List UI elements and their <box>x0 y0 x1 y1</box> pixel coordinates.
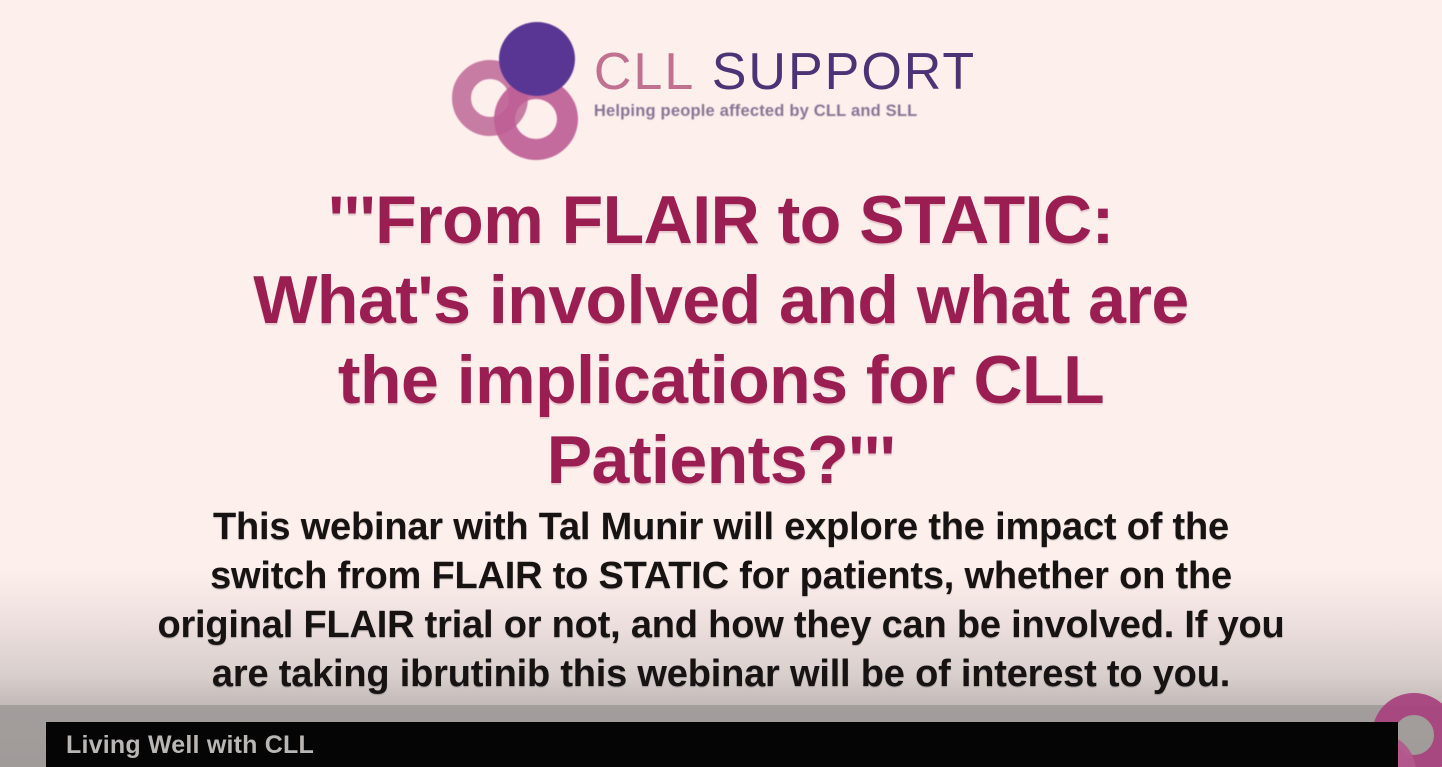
logo-solid-circle-icon <box>499 22 575 96</box>
brand-wordmark: CLL SUPPORT <box>594 45 976 99</box>
brand-tagline: Helping people affected by CLL and SLL <box>594 102 918 121</box>
logo-row: CLL SUPPORT Helping people affected by C… <box>450 22 976 144</box>
logo-text-block: CLL SUPPORT Helping people affected by C… <box>594 45 976 120</box>
title-line-3: the implications for CLL <box>0 340 1442 420</box>
description-line-4: are taking ibrutinib this webinar will b… <box>0 650 1442 699</box>
description-line-3: original FLAIR trial or not, and how the… <box>0 601 1442 650</box>
wordmark-cll: CLL <box>594 43 695 101</box>
cll-support-logo-mark-icon <box>450 22 578 144</box>
wordmark-support: SUPPORT <box>695 43 976 101</box>
webinar-title-slide: CLL SUPPORT Helping people affected by C… <box>0 0 1442 767</box>
title-line-1: '''From FLAIR to STATIC: <box>0 180 1442 260</box>
description-line-2: switch from FLAIR to STATIC for patients… <box>0 552 1442 601</box>
title-line-4: Patients?''' <box>0 420 1442 500</box>
webinar-description: This webinar with Tal Munir will explore… <box>0 503 1442 699</box>
description-line-1: This webinar with Tal Munir will explore… <box>0 503 1442 552</box>
brand-header: CLL SUPPORT Helping people affected by C… <box>0 22 1442 152</box>
title-line-2: What's involved and what are <box>0 260 1442 340</box>
page-title: '''From FLAIR to STATIC: What's involved… <box>0 180 1442 500</box>
caption-label: Living Well with CLL <box>66 729 314 761</box>
